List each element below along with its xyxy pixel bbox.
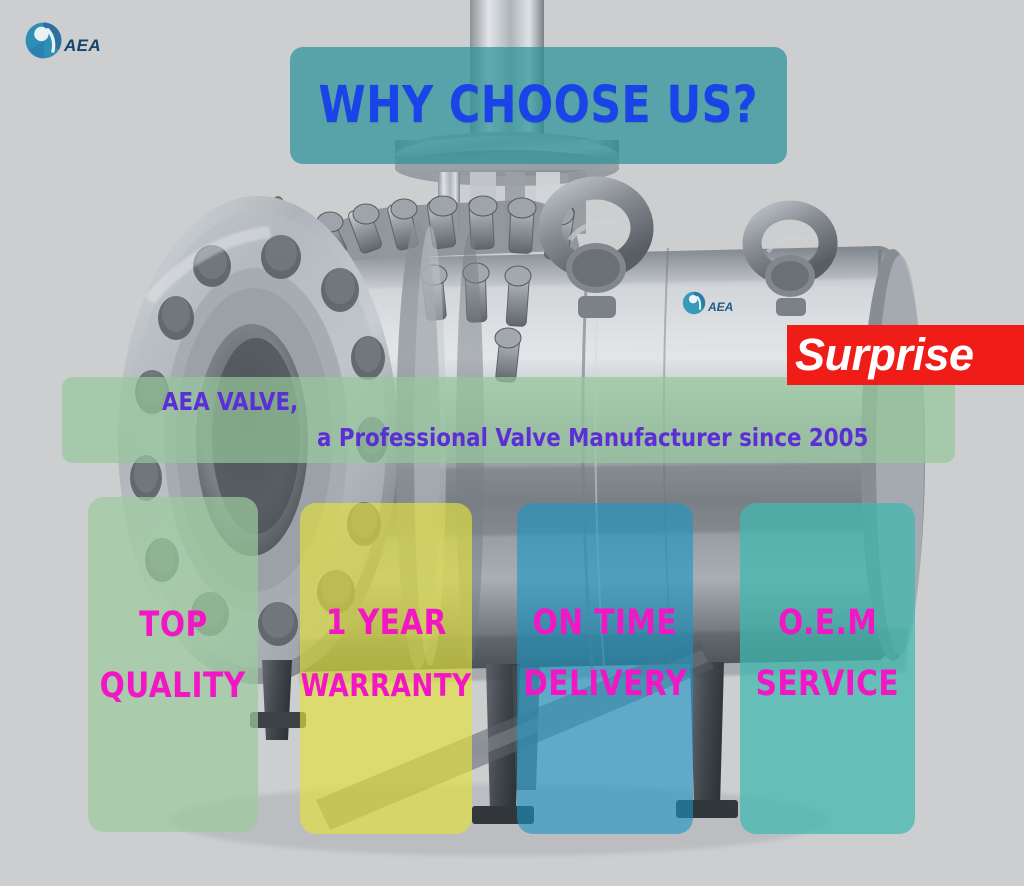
aea-logo-icon	[680, 287, 710, 317]
feature-label-line-1: ON TIME	[533, 603, 677, 643]
promotional-poster: AEA AEA WHY CHOOSE US? Surprise AEA VALV…	[0, 0, 1024, 886]
feature-label-line-2: QUALITY	[100, 666, 246, 706]
feature-label-line-1: TOP	[139, 605, 207, 645]
aea-watermark-text: AEA	[708, 300, 733, 314]
title-banner: WHY CHOOSE US?	[290, 47, 787, 164]
tagline-line-1: AEA VALVE,	[162, 387, 298, 416]
feature-label-line-1: O.E.M	[778, 603, 877, 643]
brand-logo[interactable]: AEA	[22, 14, 142, 64]
feature-card-top-quality[interactable]: TOP QUALITY	[88, 497, 258, 832]
feature-card-on-time-delivery[interactable]: ON TIME DELIVERY	[517, 503, 693, 834]
feature-label-line-2: SERVICE	[756, 664, 899, 704]
feature-card-oem-service[interactable]: O.E.M SERVICE	[740, 503, 915, 834]
feature-card-one-year-warranty[interactable]: 1 YEAR WARRANTY	[300, 503, 472, 834]
aea-logo-icon	[22, 16, 68, 62]
brand-wordmark: AEA	[64, 36, 101, 56]
feature-label-line-2: DELIVERY	[523, 664, 687, 704]
valve-body-watermark: AEA	[680, 281, 760, 323]
page-title: WHY CHOOSE US?	[319, 76, 758, 135]
tagline-banner: AEA VALVE, a Professional Valve Manufact…	[62, 377, 955, 463]
feature-label-line-2: WARRANTY	[300, 668, 471, 704]
tagline-line-2: a Professional Valve Manufacturer since …	[317, 423, 868, 452]
feature-label-line-1: 1 YEAR	[325, 603, 446, 643]
surprise-badge-label: Surprise	[795, 329, 974, 381]
surprise-badge[interactable]: Surprise	[787, 325, 1024, 385]
